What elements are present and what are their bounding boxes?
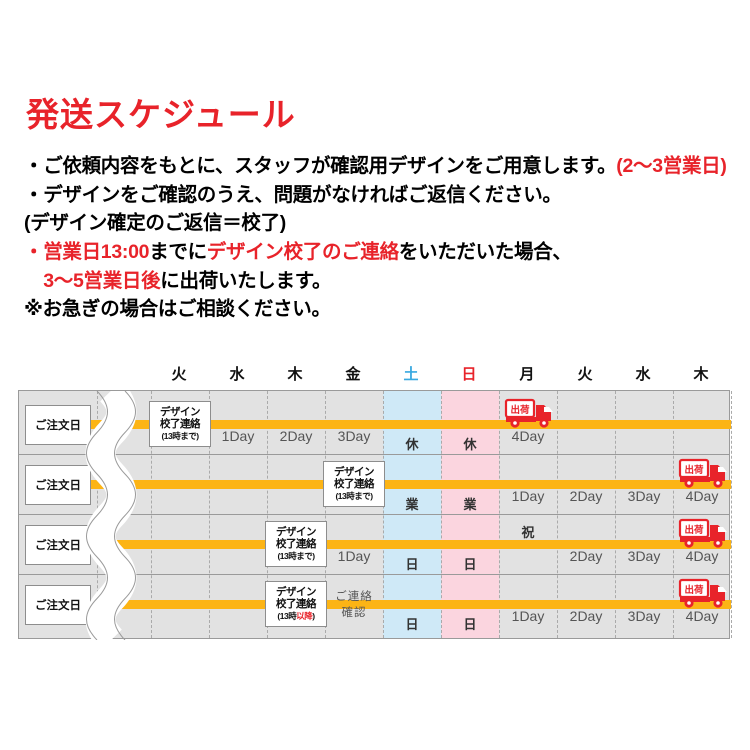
day-header-火: 火 xyxy=(556,360,614,390)
confirmation-note-line1: ご連絡 xyxy=(325,590,383,606)
order-date-label: ご注文日 xyxy=(35,537,81,553)
day-header-火: 火 xyxy=(150,360,208,390)
day-count-label: 2Day xyxy=(557,548,615,564)
day-count-label: 2Day xyxy=(557,488,615,504)
proof-label-line2: 校了連絡 xyxy=(266,598,326,610)
closure-mark: 業 xyxy=(441,494,499,513)
note-segment: ・ご依頼内容をもとに、スタッフが確認用デザインをご用意します。 xyxy=(24,155,616,177)
closure-mark: 日 xyxy=(441,554,499,573)
proof-label-line1: デザイン xyxy=(266,526,326,538)
order-date-box: ご注文日 xyxy=(25,465,91,505)
schedule-row: ご注文日日日1Day2Day3Day4Dayご連絡確認デザイン校了連絡(13時以… xyxy=(19,574,731,634)
day-header-日: 日 xyxy=(440,360,498,390)
day-count-label: 3Day xyxy=(615,608,673,624)
closure-mark: 祝 xyxy=(499,522,557,541)
day-count-label: 1Day xyxy=(325,548,383,564)
day-header-水: 水 xyxy=(208,360,266,390)
proof-label-line2: 校了連絡 xyxy=(324,478,384,490)
note-segment: をいただいた場合、 xyxy=(399,241,572,263)
order-date-label: ご注文日 xyxy=(35,477,81,493)
svg-text:出荷: 出荷 xyxy=(684,584,704,596)
note-line: ※お急ぎの場合はご相談ください。 xyxy=(24,295,736,324)
note-segment: 3～5営業日後 xyxy=(24,270,160,292)
day-header-木: 木 xyxy=(266,360,324,390)
shipping-truck-icon: 出荷 xyxy=(499,396,557,436)
closure-mark: 休 xyxy=(441,434,499,453)
order-date-label: ご注文日 xyxy=(35,597,81,613)
page-title: 発送スケジュール xyxy=(26,98,296,131)
proof-time-note: (13時まで) xyxy=(266,551,326,561)
note-segment: に出荷いたします。 xyxy=(160,270,331,292)
order-date-box: ご注文日 xyxy=(25,525,91,565)
confirmation-note: ご連絡確認 xyxy=(325,590,383,621)
svg-text:出荷: 出荷 xyxy=(684,524,704,536)
note-segment: 営業日13:00 xyxy=(43,241,149,263)
day-count-label: 2Day xyxy=(267,428,325,444)
proof-time-note: (13時まで) xyxy=(150,431,210,441)
proof-time-note: (13時まで) xyxy=(324,491,384,501)
proof-time-prefix: (13時 xyxy=(277,611,296,621)
day-count-label: 3Day xyxy=(615,488,673,504)
day-count-label: 3Day xyxy=(615,548,673,564)
closure-mark: 休 xyxy=(383,434,441,453)
schedule-row: ご注文日業業1Day2Day3Day4Dayデザイン校了連絡(13時まで)出荷 xyxy=(19,454,731,514)
proof-label-line1: デザイン xyxy=(150,406,210,418)
proof-label-line2: 校了連絡 xyxy=(150,418,210,430)
proof-complete-box: デザイン校了連絡(13時以降) xyxy=(265,581,327,627)
day-count-label: 1Day xyxy=(499,608,557,624)
note-line: ・ご依頼内容をもとに、スタッフが確認用デザインをご用意します。(2～3営業日) xyxy=(24,152,736,181)
note-line: ・デザインをご確認のうえ、問題がなければご返信ください。 xyxy=(24,181,736,210)
shipping-schedule-infographic: 発送スケジュール ・ご依頼内容をもとに、スタッフが確認用デザインをご用意します。… xyxy=(0,0,750,750)
schedule-grid: ご注文日休休1Day2Day3Day4Dayデザイン校了連絡(13時まで)出荷ご… xyxy=(18,390,730,639)
note-line: (デザイン確定のご返信＝校了) xyxy=(24,209,736,238)
day-count-label: 1Day xyxy=(209,428,267,444)
shipping-truck-icon: 出荷 xyxy=(673,456,731,496)
note-line: ・営業日13:00までにデザイン校了のご連絡をいただいた場合、 xyxy=(24,238,736,267)
proof-time-note: (13時以降) xyxy=(266,611,326,621)
proof-complete-box: デザイン校了連絡(13時まで) xyxy=(323,461,385,507)
notes-list: ・ご依頼内容をもとに、スタッフが確認用デザインをご用意します。(2～3営業日)・… xyxy=(24,152,736,324)
note-segment: ・デザインをご確認のうえ、問題がなければご返信ください。 xyxy=(24,184,562,206)
day-header-row: 火水木金土日月火水木 xyxy=(18,360,732,390)
closure-mark: 日 xyxy=(383,554,441,573)
proof-time-suffix: ) xyxy=(312,611,314,621)
note-segment: (デザイン確定のご返信＝校了) xyxy=(24,212,286,234)
note-segment: デザイン校了のご連絡 xyxy=(207,241,399,263)
closure-mark: 業 xyxy=(383,494,441,513)
proof-label-line1: デザイン xyxy=(324,466,384,478)
order-date-box: ご注文日 xyxy=(25,585,91,625)
svg-text:出荷: 出荷 xyxy=(684,464,704,476)
note-segment: までに xyxy=(149,241,207,263)
schedule-table: 火水木金土日月火水木 ご注文日休休1Day2Day3Day4Dayデザイン校了連… xyxy=(18,360,732,639)
note-segment: (2～3営業日) xyxy=(616,155,726,177)
day-header-木: 木 xyxy=(672,360,730,390)
day-header-月: 月 xyxy=(498,360,556,390)
schedule-row: ご注文日日日祝1Day2Day3Day4Dayデザイン校了連絡(13時まで)出荷 xyxy=(19,514,731,574)
shipping-truck-icon: 出荷 xyxy=(673,576,731,616)
note-segment: ※お急ぎの場合はご相談ください。 xyxy=(24,298,331,320)
proof-label-line1: デザイン xyxy=(266,586,326,598)
column-separator xyxy=(731,391,732,638)
proof-complete-box: デザイン校了連絡(13時まで) xyxy=(265,521,327,567)
proof-time-highlight: 以降 xyxy=(296,611,312,621)
note-line: 3～5営業日後に出荷いたします。 xyxy=(24,267,736,296)
day-header-水: 水 xyxy=(614,360,672,390)
day-count-label: 3Day xyxy=(325,428,383,444)
order-date-box: ご注文日 xyxy=(25,405,91,445)
order-date-label: ご注文日 xyxy=(35,417,81,433)
day-count-label: 1Day xyxy=(499,488,557,504)
day-header-土: 土 xyxy=(382,360,440,390)
closure-mark: 日 xyxy=(441,614,499,633)
day-count-label: 2Day xyxy=(557,608,615,624)
schedule-row: ご注文日休休1Day2Day3Day4Dayデザイン校了連絡(13時まで)出荷 xyxy=(19,394,731,454)
proof-complete-box: デザイン校了連絡(13時まで) xyxy=(149,401,211,447)
svg-text:出荷: 出荷 xyxy=(510,404,530,416)
day-header-金: 金 xyxy=(324,360,382,390)
shipping-truck-icon: 出荷 xyxy=(673,516,731,556)
closure-mark: 日 xyxy=(383,614,441,633)
proof-label-line2: 校了連絡 xyxy=(266,538,326,550)
confirmation-note-line2: 確認 xyxy=(325,606,383,622)
note-segment: ・ xyxy=(24,241,43,263)
